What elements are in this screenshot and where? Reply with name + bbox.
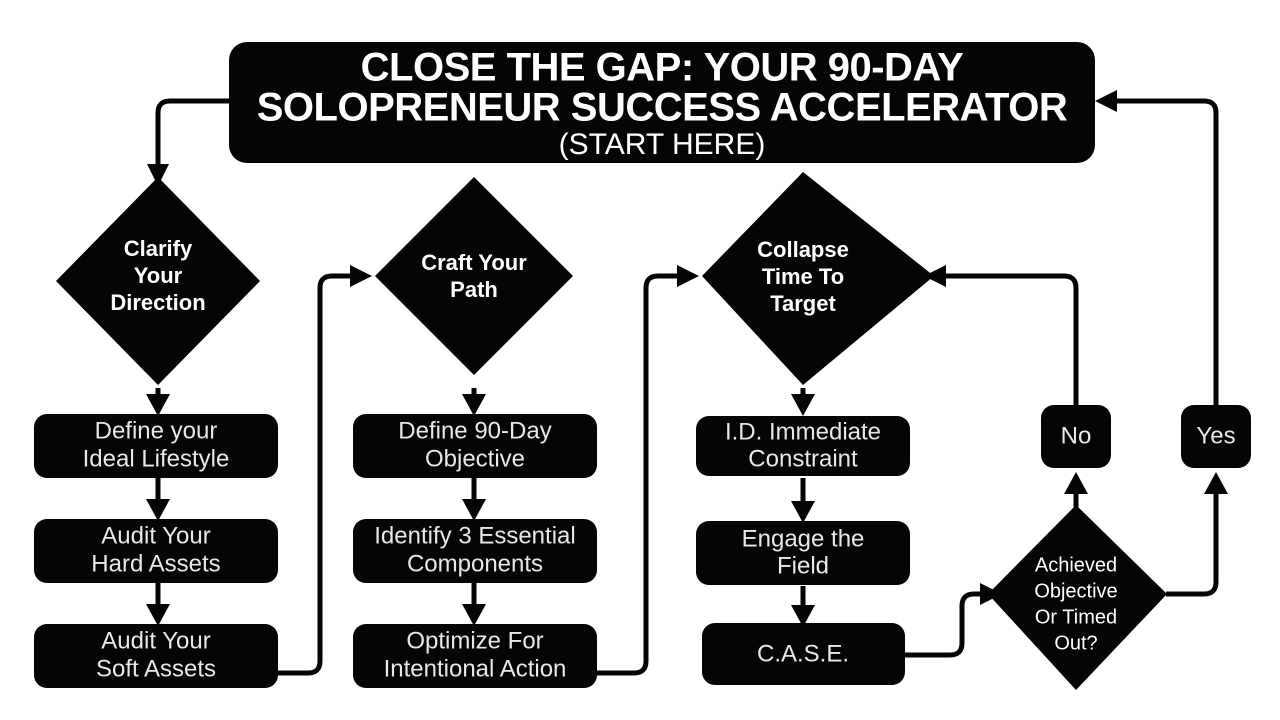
collapse-line1: Collapse [757,237,849,262]
arrowhead-down-step3 [146,604,170,626]
step-node-audit-soft-assets[interactable]: Audit Your Soft Assets [34,624,278,688]
decision-line2: Objective [1034,580,1117,602]
title-line2: SOLOPRENEUR SUCCESS ACCELERATOR [257,86,1068,130]
craft-line2: Path [450,277,498,302]
step-line1: Audit Your [101,522,210,549]
arrowhead-down-collapse-step2 [791,501,815,523]
step-line2: Field [777,552,829,579]
no-label: No [1061,422,1092,449]
step-node-define-ideal-lifestyle[interactable]: Define your Ideal Lifestyle [34,414,278,478]
step-node-id-immediate-constraint[interactable]: I.D. Immediate Constraint [696,416,910,476]
step-line1: Optimize For [406,627,543,654]
step-line2: Ideal Lifestyle [83,445,230,472]
edge-collapse-step2-to-step3 [791,586,815,627]
step-line2: Intentional Action [384,655,567,682]
edge-step1-to-step2 [146,478,170,521]
yes-label: Yes [1196,422,1235,449]
edge-yes-to-title [1095,90,1216,405]
craft-line1: Craft Your [421,250,527,275]
arrowhead-right-craft [350,265,372,287]
step-node-case[interactable]: C.A.S.E. [702,623,905,685]
step-line2: Components [407,550,543,577]
title-node[interactable]: CLOSE THE GAP: YOUR 90-DAY SOLOPRENEUR S… [229,42,1095,163]
step-line1: C.A.S.E. [757,640,849,667]
step-node-identify-3-essential-components[interactable]: Identify 3 Essential Components [353,519,597,583]
edge-optimize-to-collapse [594,265,699,673]
step-node-optimize-for-intentional-action[interactable]: Optimize For Intentional Action [353,624,597,688]
arrowhead-down-craft-step3 [462,604,486,626]
arrowhead-down-collapse-step1 [791,394,815,416]
edge-clarify-to-step1 [146,388,170,416]
step-line1: Define your [95,417,218,444]
edge-collapse-step1-to-step2 [791,478,815,523]
collapse-line2: Time To [762,264,844,289]
edge-title-to-clarify [147,101,229,186]
arrowhead-up-yes [1204,472,1228,494]
arrowhead-down-step2 [146,499,170,521]
step-node-audit-hard-assets[interactable]: Audit Your Hard Assets [34,519,278,583]
edge-collapse-to-step1 [791,388,815,416]
clarify-line1: Clarify [124,236,193,261]
arrowhead-down-craft-step1 [462,394,486,416]
decision-node-achieved-objective[interactable]: Achieved Objective Or Timed Out? [988,505,1167,690]
edge-decision-to-yes [1166,472,1228,594]
flowchart-svg: CLOSE THE GAP: YOUR 90-DAY SOLOPRENEUR S… [0,0,1280,720]
step-line2: Objective [425,445,525,472]
branch-node-yes[interactable]: Yes [1181,405,1251,468]
step-line2: Constraint [748,445,858,472]
collapse-line3: Target [770,291,836,316]
phase-diamond-craft[interactable]: Craft Your Path [375,177,573,375]
decision-line1: Achieved [1035,554,1117,576]
edge-case-to-decision [905,583,1002,655]
phase-diamond-clarify[interactable]: Clarify Your Direction [56,177,260,385]
arrowhead-left-title [1095,90,1117,112]
branch-node-no[interactable]: No [1041,405,1111,468]
arrowhead-down-step1 [146,394,170,416]
step-line1: Define 90-Day [398,417,551,444]
clarify-line2: Your [134,263,183,288]
title-line3: (START HERE) [559,128,766,161]
edge-step2-to-step3 [146,583,170,626]
step-node-engage-the-field[interactable]: Engage the Field [696,521,910,585]
decision-line4: Out? [1054,632,1097,654]
step-line2: Hard Assets [91,550,220,577]
arrowhead-right-collapse [677,265,699,287]
clarify-line3: Direction [110,290,205,315]
step-line1: Audit Your [101,627,210,654]
arrowhead-down-craft-step2 [462,499,486,521]
step-line1: Engage the [742,525,865,552]
flowchart-canvas: CLOSE THE GAP: YOUR 90-DAY SOLOPRENEUR S… [0,0,1280,720]
edge-craft-step1-to-step2 [462,478,486,521]
title-line1: CLOSE THE GAP: YOUR 90-DAY [361,46,965,90]
step-node-define-90-day-objective[interactable]: Define 90-Day Objective [353,414,597,478]
step-line2: Soft Assets [96,655,216,682]
edge-craft-to-step1 [462,388,486,416]
edge-no-to-collapse [924,265,1076,405]
edge-craft-step2-to-step3 [462,583,486,626]
decision-line3: Or Timed [1035,606,1117,628]
phase-diamond-collapse[interactable]: Collapse Time To Target [702,172,934,385]
step-line1: Identify 3 Essential [374,522,575,549]
step-line1: I.D. Immediate [725,418,881,445]
arrowhead-up-no [1064,472,1088,494]
